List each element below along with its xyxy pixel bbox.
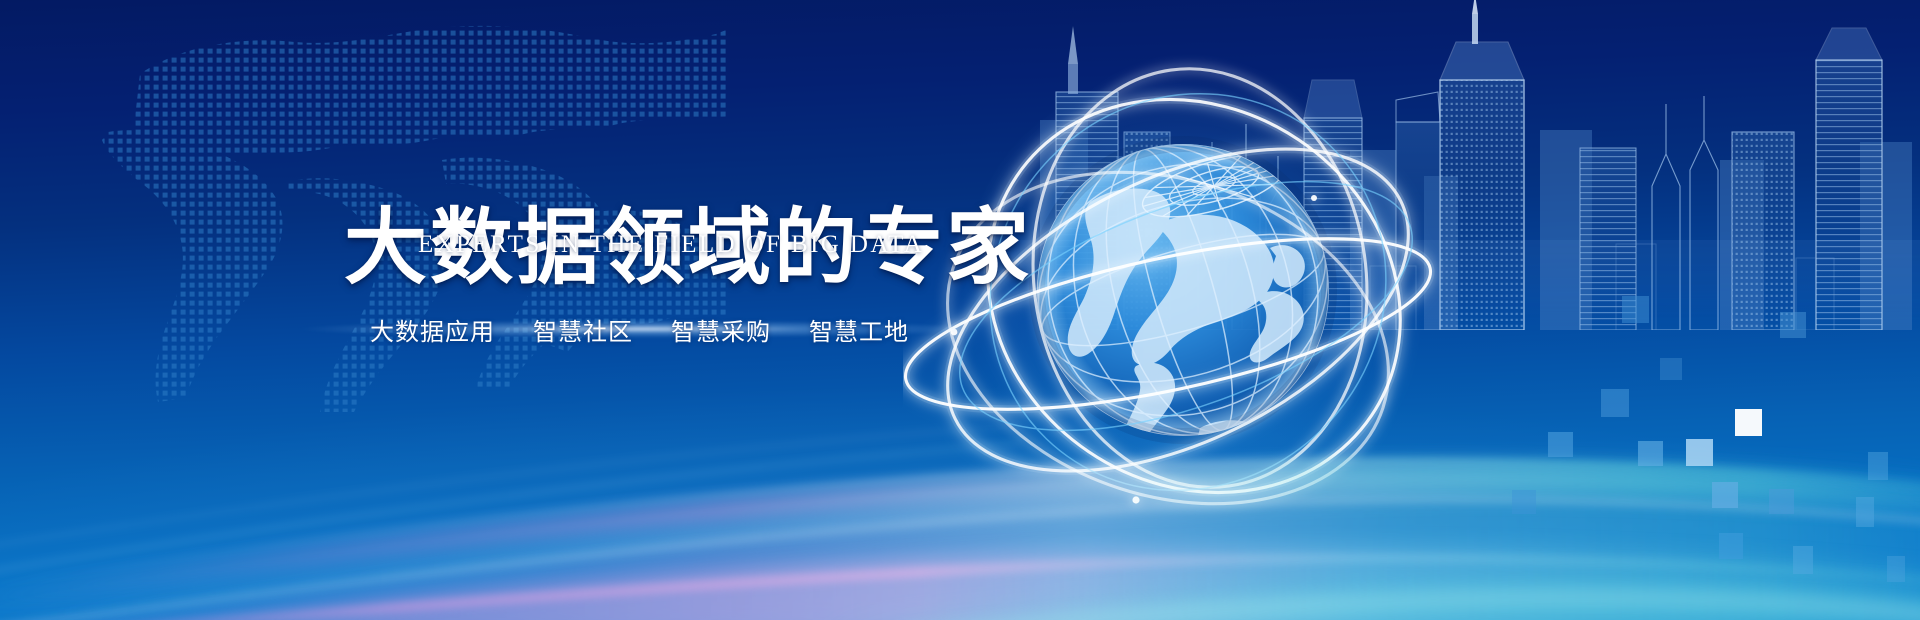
nav-item-2[interactable]: 智慧社区: [533, 312, 633, 347]
nav-item-4[interactable]: 智慧工地: [809, 312, 909, 347]
banner-copy: 大数据领域的专家 EXPERTS IN THE FIELD OF BIG DAT…: [0, 0, 1000, 620]
banner-nav[interactable]: 大数据应用智慧社区智慧采购智慧工地: [370, 312, 930, 347]
hero-banner: 大数据领域的专家 EXPERTS IN THE FIELD OF BIG DAT…: [0, 0, 1920, 620]
nav-item-3[interactable]: 智慧采购: [671, 312, 771, 347]
nav-item-1[interactable]: 大数据应用: [370, 312, 495, 347]
page-subtitle: EXPERTS IN THE FIELD OF BIG DATA: [418, 232, 924, 257]
